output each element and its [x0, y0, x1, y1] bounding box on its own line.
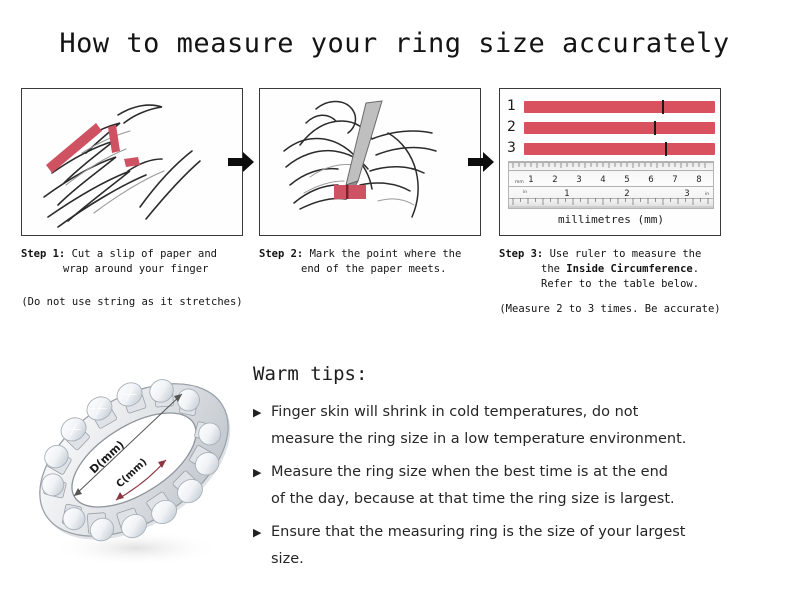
measured-strips-group: 1 2 3 [507, 98, 715, 161]
ring-diagram: D(mm) C(mm) [16, 352, 252, 584]
step-1-panel [21, 88, 243, 236]
step-2-line2: end of the paper meets. [259, 262, 481, 277]
bullet-icon: ▶ [253, 459, 271, 486]
svg-text:3: 3 [684, 189, 689, 199]
svg-text:2: 2 [552, 175, 557, 185]
svg-text:8: 8 [696, 175, 701, 185]
tip-2-line2: of the day, because at that time the rin… [271, 491, 675, 507]
tip-3-line2: size. [271, 551, 304, 567]
svg-text:1: 1 [528, 175, 533, 185]
step-3-inside-circumference: Inside Circumference [566, 263, 692, 275]
svg-text:in: in [523, 189, 527, 195]
strip-row: 1 [507, 98, 715, 115]
tip-3-line1: Ensure that the measuring ring is the si… [271, 524, 686, 540]
step-3-line2: the Inside Circumference. [499, 262, 721, 277]
step-2-line1: Mark the point where the [310, 248, 462, 260]
warm-tips-section: Warm tips: ▶ Finger skin will shrink in … [253, 363, 773, 579]
step-2-column: Step 2: Mark the point where the end of … [259, 88, 481, 277]
step-2-panel [259, 88, 481, 236]
hand-with-paper-slip-illustration [22, 89, 242, 235]
strip-row: 3 [507, 140, 715, 157]
step-1-note: (Do not use string as it stretches) [21, 295, 243, 310]
strip-number-2: 2 [507, 119, 524, 136]
strip-bar-1 [524, 101, 715, 113]
strip-bar-3 [524, 143, 715, 155]
svg-text:1: 1 [564, 189, 569, 199]
svg-text:6: 6 [648, 175, 653, 185]
list-item: ▶ Measure the ring size when the best ti… [253, 459, 773, 513]
strip-number-1: 1 [507, 98, 524, 115]
strip-mark-3 [665, 142, 667, 156]
step-1-line2: wrap around your finger [21, 262, 243, 277]
tip-text: Finger skin will shrink in cold temperat… [271, 399, 773, 453]
step-3-line3: Refer to the table below. [499, 277, 721, 292]
step-3-line2-pre: the [541, 263, 566, 275]
step-2-caption: Step 2: Mark the point where the end of … [259, 247, 481, 277]
warm-tips-heading: Warm tips: [253, 363, 773, 385]
arrow-step2-to-step3 [468, 150, 494, 174]
strip-mark-2 [654, 121, 656, 135]
steps-row: Step 1: Cut a slip of paper and wrap aro… [0, 88, 789, 338]
step-3-caption: Step 3: Use ruler to measure the the Ins… [499, 247, 721, 292]
strip-bar-2 [524, 122, 715, 134]
list-item: ▶ Finger skin will shrink in cold temper… [253, 399, 773, 453]
step-1-line1: Cut a slip of paper and [72, 248, 217, 260]
step-1-column: Step 1: Cut a slip of paper and wrap aro… [21, 88, 243, 310]
strip-mark-1 [662, 100, 664, 114]
step-3-note: (Measure 2 to 3 times. Be accurate) [499, 302, 721, 317]
step-3-column: 1 2 3 [499, 88, 721, 317]
list-item: ▶ Ensure that the measuring ring is the … [253, 519, 773, 573]
tip-1-line2: measure the ring size in a low temperatu… [271, 431, 686, 447]
bullet-icon: ▶ [253, 519, 271, 546]
svg-text:7: 7 [672, 175, 677, 185]
strip-row: 2 [507, 119, 715, 136]
svg-text:2: 2 [624, 189, 629, 199]
step-2-label: Step 2: [259, 248, 303, 260]
step-1-label: Step 1: [21, 248, 65, 260]
ruler-unit-caption: millimetres (mm) [500, 213, 721, 226]
bullet-icon: ▶ [253, 399, 271, 426]
svg-text:4: 4 [600, 175, 605, 185]
tip-text: Measure the ring size when the best time… [271, 459, 773, 513]
svg-text:mm: mm [515, 180, 524, 185]
step-3-line1: Use ruler to measure the [550, 248, 702, 260]
svg-text:3: 3 [576, 175, 581, 185]
svg-text:in: in [705, 191, 709, 197]
tip-1-line1: Finger skin will shrink in cold temperat… [271, 404, 638, 420]
strip-number-3: 3 [507, 140, 524, 157]
arrow-step1-to-step2 [228, 150, 254, 174]
step-3-line2-post: . [693, 263, 699, 275]
hand-marking-paper-with-pen-illustration [260, 89, 480, 235]
step-1-caption: Step 1: Cut a slip of paper and wrap aro… [21, 247, 243, 277]
ruler-graphic: 1 2 3 4 5 6 7 8 mm 1 2 3 [508, 161, 714, 209]
tip-text: Ensure that the measuring ring is the si… [271, 519, 773, 573]
page-title: How to measure your ring size accurately [0, 28, 789, 59]
tip-2-line1: Measure the ring size when the best time… [271, 464, 668, 480]
step-3-panel: 1 2 3 [499, 88, 721, 236]
svg-text:5: 5 [624, 175, 629, 185]
step-3-label: Step 3: [499, 248, 543, 260]
paper-slip-red [334, 185, 366, 199]
